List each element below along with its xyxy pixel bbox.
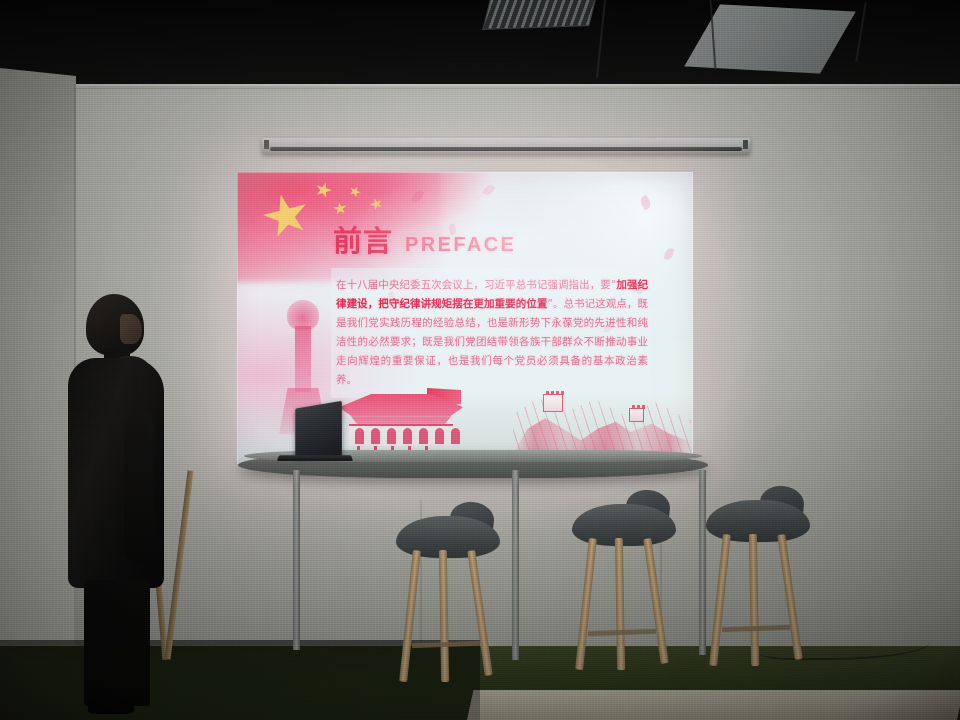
floor-strip xyxy=(467,690,960,720)
laptop-keyboard xyxy=(277,455,353,461)
room-scene: 前言 PREFACE 在十八届中央纪委五次会议上，习近平总书记强调指出，要“加强… xyxy=(0,0,960,720)
ceiling-wire xyxy=(855,2,866,62)
great-wall-illustration xyxy=(513,384,691,460)
slide-body-text: 在十八届中央纪委五次会议上，习近平总书记强调指出，要“加强纪律建设，把守纪律讲规… xyxy=(336,276,648,390)
bar-stool[interactable] xyxy=(706,500,810,680)
stool-leg xyxy=(615,538,625,670)
ceiling-wire xyxy=(596,0,606,78)
great-wall-tower xyxy=(543,394,563,412)
roller-bracket-left xyxy=(264,140,269,149)
tiananmen-arches xyxy=(355,428,460,444)
standing-presenter xyxy=(62,294,170,720)
stool-leg xyxy=(777,534,802,660)
slide-title-cn: 前言 xyxy=(333,218,393,260)
stool-leg xyxy=(575,538,597,670)
laptop-screen xyxy=(295,401,342,458)
stool-leg xyxy=(749,534,759,666)
presenter-shoe xyxy=(88,698,134,714)
slide-title: 前言 PREFACE xyxy=(333,218,516,260)
tower-crenellations xyxy=(632,405,645,409)
counter-leg xyxy=(293,470,300,650)
roller-bar xyxy=(270,147,742,151)
stool-seat xyxy=(572,504,676,546)
slide-title-en: PREFACE xyxy=(405,234,516,257)
great-wall-hatching xyxy=(513,384,691,460)
presenter-laptop[interactable] xyxy=(278,405,352,467)
air-conditioning-vent-icon xyxy=(482,0,598,30)
monument-column xyxy=(295,326,311,392)
stool-seat xyxy=(706,500,810,542)
stool-leg xyxy=(643,538,668,664)
stool-leg xyxy=(467,550,492,676)
stool-leg xyxy=(399,550,421,682)
ceiling xyxy=(0,0,960,96)
stool-leg xyxy=(709,534,731,666)
presenter-arm xyxy=(124,412,154,562)
slide-body-run: ”。总书记这观点，既是我们党实践历程的经验总结，也是新形势下永葆党的先进性和纯洁… xyxy=(336,298,648,386)
bar-stool[interactable] xyxy=(572,504,676,684)
tower-crenellations xyxy=(546,391,564,395)
presenter-legs xyxy=(84,580,150,706)
stool-leg xyxy=(439,550,449,682)
counter-leg xyxy=(699,470,706,655)
counter-leg xyxy=(512,470,519,660)
roller-bracket-right xyxy=(743,140,748,149)
slide-body-run: 在十八届中央纪委五次会议上，习近平总书记强调指出，要“ xyxy=(336,279,616,291)
wall-top-edge xyxy=(0,84,960,89)
presenter-face xyxy=(120,314,142,344)
bar-stool[interactable] xyxy=(396,516,500,696)
stool-seat xyxy=(396,516,500,558)
projection-screen-roller[interactable] xyxy=(262,138,750,154)
great-wall-tower xyxy=(629,408,644,422)
